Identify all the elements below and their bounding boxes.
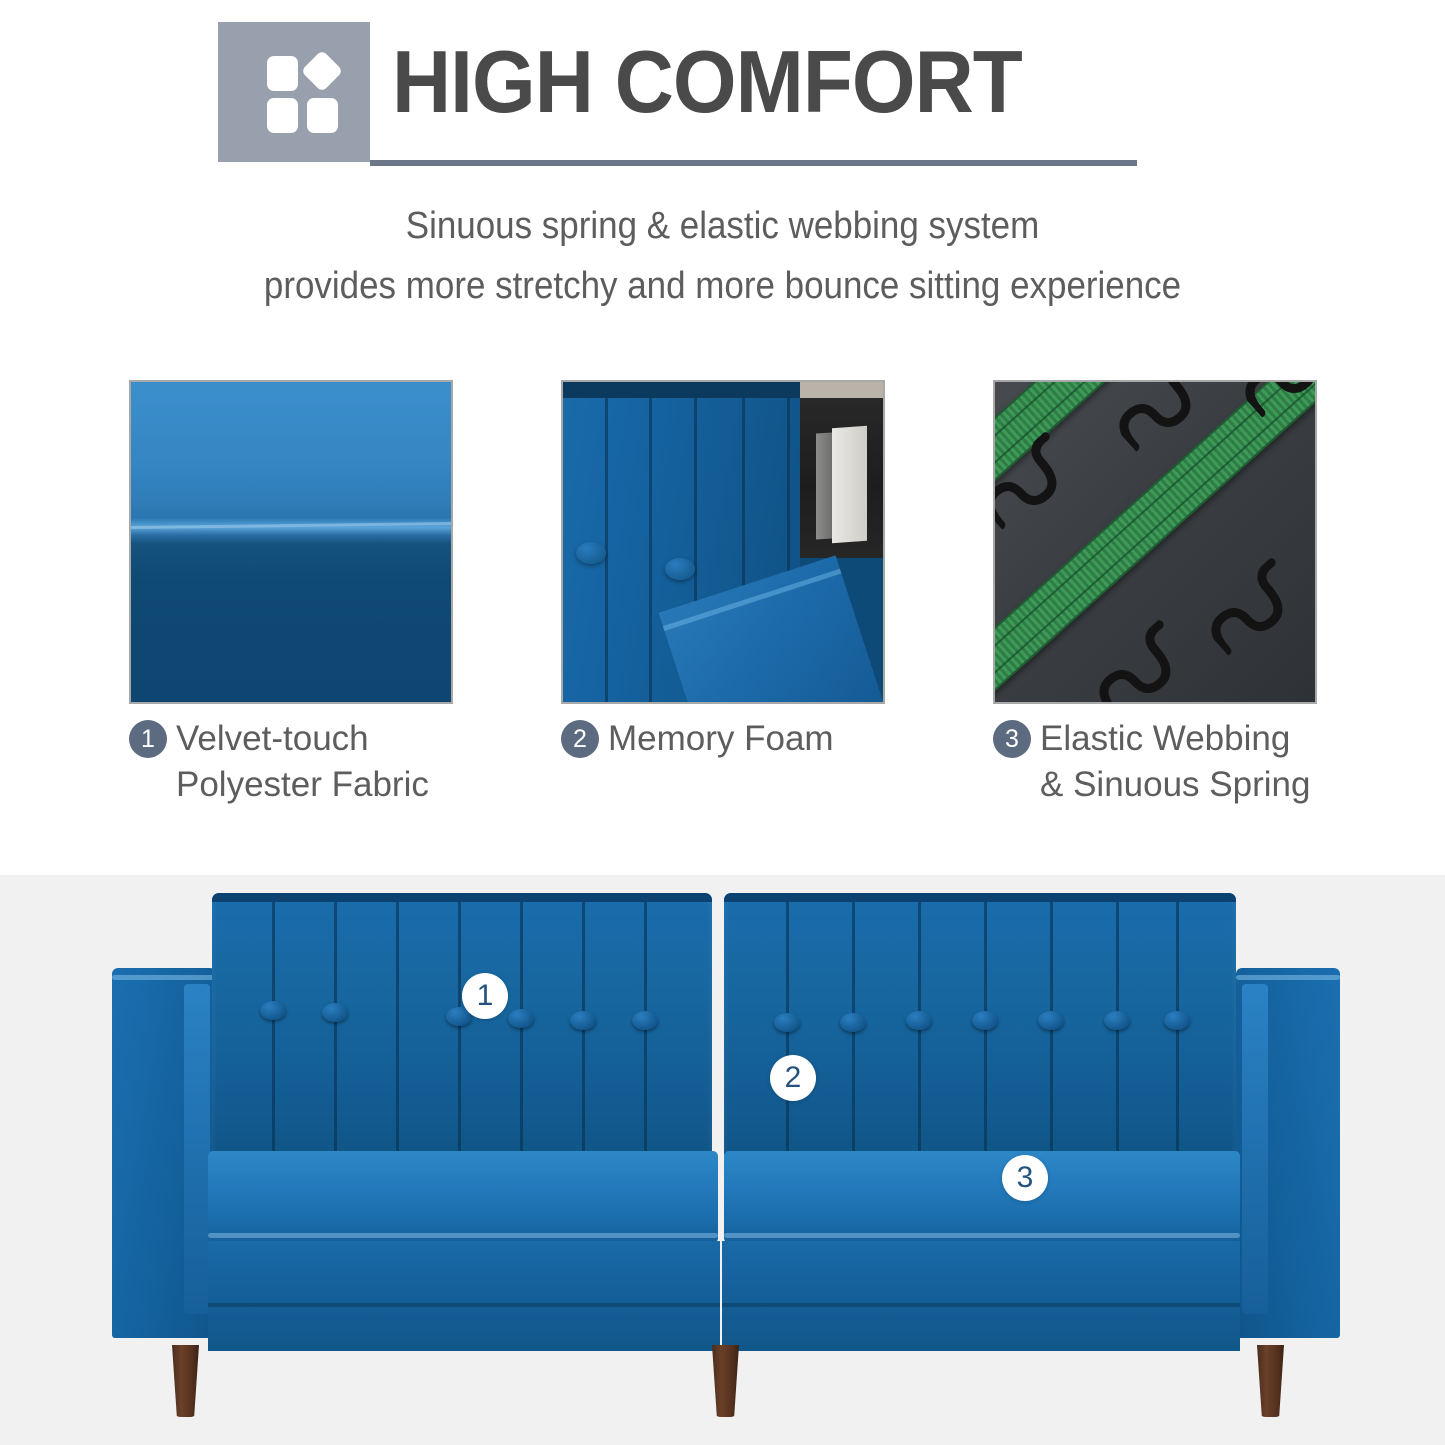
blue-velvet-sofa: 1 2 3 <box>112 893 1340 1418</box>
seat-piping <box>724 1233 1240 1238</box>
book-white <box>832 426 867 544</box>
tuft-seam <box>649 398 652 702</box>
tufted-backrest-art <box>563 382 883 702</box>
tuft-button <box>570 1011 596 1030</box>
tuft-button <box>632 1011 658 1030</box>
seat-piping <box>208 1233 718 1238</box>
sofa-arm-left <box>112 968 216 1338</box>
feature-thumbnail-row: 1Velvet-touch Polyester Fabric <box>0 380 1445 840</box>
feature-badge-1: 1 <box>129 720 167 758</box>
channel-seam <box>520 902 523 1155</box>
sofa-backrest-left <box>212 893 712 1155</box>
product-photo-band: 1 2 3 <box>0 875 1445 1445</box>
sofa-seat-cushion-left <box>208 1151 718 1243</box>
base-seam <box>722 1303 1240 1307</box>
sinuous-spring <box>1087 610 1208 704</box>
tuft-button <box>972 1011 998 1030</box>
tuft-button <box>1104 1011 1130 1030</box>
sofa-arm-right <box>1236 968 1340 1338</box>
arm-piping <box>1236 975 1340 980</box>
sinuous-spring <box>1199 548 1317 665</box>
tuft-button <box>322 1003 348 1022</box>
tuft-button <box>906 1011 932 1030</box>
channel-seam <box>458 902 461 1155</box>
shelf-top-edge <box>800 382 883 398</box>
backrest-top-edge <box>724 893 1236 902</box>
channel-seam <box>334 902 337 1155</box>
feature-thumbnail-elastic-webbing <box>993 380 1317 704</box>
channel-seam <box>272 902 275 1155</box>
tuft-button <box>508 1009 534 1028</box>
photo-callout-2: 2 <box>770 1055 816 1101</box>
feature-label-3-line-1: Elastic Webbing <box>1040 719 1290 758</box>
feature-thumbnail-velvet-fabric <box>129 380 453 704</box>
header-banner: HIGH COMFORT <box>0 0 1445 185</box>
channel-seam <box>396 902 399 1155</box>
grid-diamond-top-right <box>301 50 343 92</box>
feature-item-3: 3Elastic Webbing & Sinuous Spring <box>993 380 1317 704</box>
sofa-backrest-right <box>724 893 1236 1155</box>
grid-diamond-icon <box>267 49 343 135</box>
tuft-button <box>1038 1011 1064 1030</box>
feature-item-1: 1Velvet-touch Polyester Fabric <box>129 380 453 704</box>
arm-inner-panel <box>1242 984 1268 1314</box>
grid-square-bottom-right <box>307 98 338 133</box>
arm-inner-panel <box>184 984 210 1314</box>
photo-callout-1: 1 <box>462 973 508 1019</box>
sofa-base-right <box>722 1241 1240 1351</box>
feature-label-1-line-1: Velvet-touch <box>176 719 369 758</box>
feature-badge-2: 2 <box>561 720 599 758</box>
feature-caption-3: 3Elastic Webbing & Sinuous Spring <box>993 716 1333 808</box>
feature-label-1-line-2: Polyester Fabric <box>176 762 469 808</box>
sofa-leg-right <box>1257 1345 1284 1417</box>
feature-badge-3: 3 <box>993 720 1031 758</box>
base-seam <box>208 1303 720 1307</box>
feature-item-2: 2Memory Foam <box>561 380 885 704</box>
grid-square-top-left <box>267 56 298 91</box>
feature-label-3-line-2: & Sinuous Spring <box>1040 762 1333 808</box>
sofa-leg-center <box>712 1345 739 1417</box>
sofa-leg-left <box>172 1345 199 1417</box>
velvet-fabric-art <box>131 382 451 702</box>
feature-thumbnail-memory-foam <box>561 380 885 704</box>
backrest-top-edge <box>563 382 800 398</box>
tuft-button <box>840 1013 866 1032</box>
tuft-button <box>576 542 606 564</box>
page-title: HIGH COMFORT <box>392 28 1022 136</box>
backrest-top-edge <box>212 893 712 902</box>
subtitle-line-2: provides more stretchy and more bounce s… <box>58 256 1387 316</box>
feature-caption-2: 2Memory Foam <box>561 716 901 762</box>
header-icon-badge <box>218 22 370 162</box>
feature-caption-1: 1Velvet-touch Polyester Fabric <box>129 716 469 808</box>
header-divider-rule <box>370 160 1137 166</box>
photo-callout-3: 3 <box>1002 1155 1048 1201</box>
sofa-seat-cushion-right <box>724 1151 1240 1243</box>
webbing-spring-art <box>995 382 1315 702</box>
arm-piping <box>112 975 216 980</box>
grid-square-bottom-left <box>267 98 298 133</box>
subtitle-block: Sinuous spring & elastic webbing system … <box>0 196 1445 316</box>
subtitle-line-1: Sinuous spring & elastic webbing system <box>58 196 1387 256</box>
tuft-button <box>1164 1011 1190 1030</box>
sofa-base-left <box>208 1241 720 1351</box>
feature-label-2-line-1: Memory Foam <box>608 719 834 758</box>
tuft-button <box>260 1001 286 1020</box>
book-gray <box>816 433 832 540</box>
tuft-button <box>774 1013 800 1032</box>
